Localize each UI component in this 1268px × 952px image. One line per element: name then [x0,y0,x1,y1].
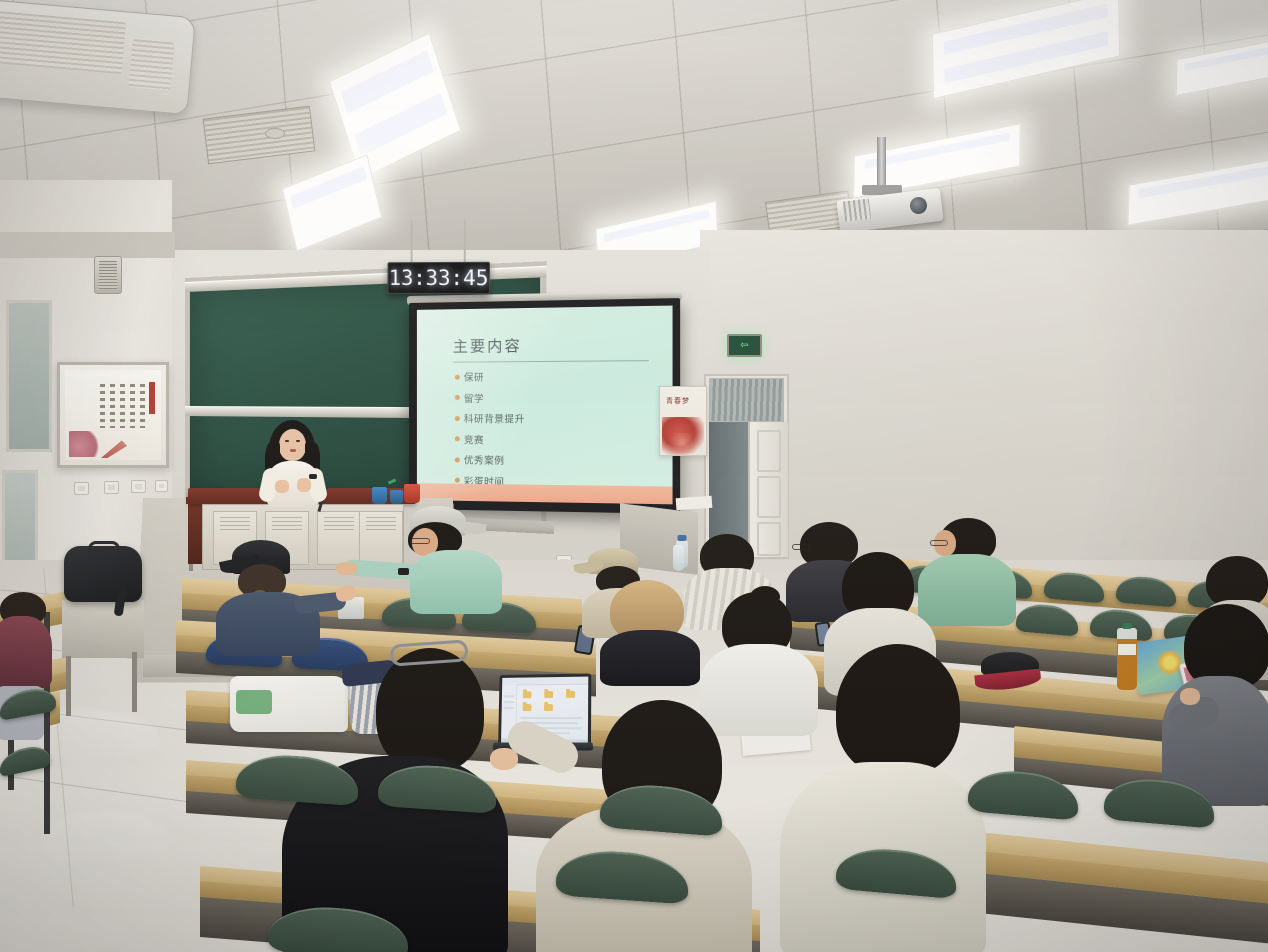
wristwatch [398,568,409,575]
emergency-exit-sign: ⇦ [727,334,762,357]
student-grey-hoodie [1162,604,1268,804]
table-leg [66,656,71,716]
wall-air-conditioner [0,0,196,115]
poster-caption: 青春梦 [666,396,690,406]
hand [1180,688,1200,705]
wall-outlet-2[interactable] [104,481,119,494]
slide-surface: 主要内容 保研 留学 科研背景提升 竞赛 优秀案例 彩蛋时间 [417,306,673,505]
side-table [62,600,144,658]
poster-seal [149,382,155,414]
water-bottle [673,545,684,571]
classroom-photo: 主要内容 保研 留学 科研背景提升 竞赛 优秀案例 彩蛋时间 13:33:45 … [0,0,1268,952]
paper-on-table [676,496,713,510]
door-transom-window [709,378,784,422]
wristwatch [309,474,317,479]
exit-arrow-icon: ⇦ [740,341,748,351]
red-cup [404,484,420,503]
wall-outlet[interactable] [74,482,89,495]
projection-screen: 主要内容 保研 留学 科研背景提升 竞赛 优秀案例 彩蛋时间 [409,298,680,514]
blue-cup [372,487,387,504]
lecturer [255,420,331,502]
student-back-right [776,644,986,944]
screen-glare [417,306,673,505]
ceiling-projector [836,137,946,229]
left-window [6,300,52,452]
black-backpack [64,546,142,602]
clock-time: 13:33:45 [389,266,489,290]
wall-speaker [94,256,122,294]
student-mint-polo [336,506,506,616]
hand [490,748,518,770]
smoke-detector-icon [265,128,285,139]
wall-outlet-3[interactable] [131,480,146,493]
table-leg-2 [132,652,137,712]
lecturer-hand-left [275,480,289,493]
framed-calligraphy-poster [57,362,169,468]
pointing-hand [336,562,358,575]
student-navy-cap [190,540,340,650]
classroom-door[interactable] [704,374,789,559]
blue-cup-2 [390,490,403,504]
wall-outlet-4[interactable] [155,480,168,492]
wall-poster-red: 青春梦 [659,386,707,456]
lecturer-hand-right [297,478,311,492]
left-wall-trim [0,232,175,258]
led-wall-clock: 13:33:45 [388,262,490,294]
tea-bottle [1117,628,1137,690]
hair-bun [750,586,780,608]
